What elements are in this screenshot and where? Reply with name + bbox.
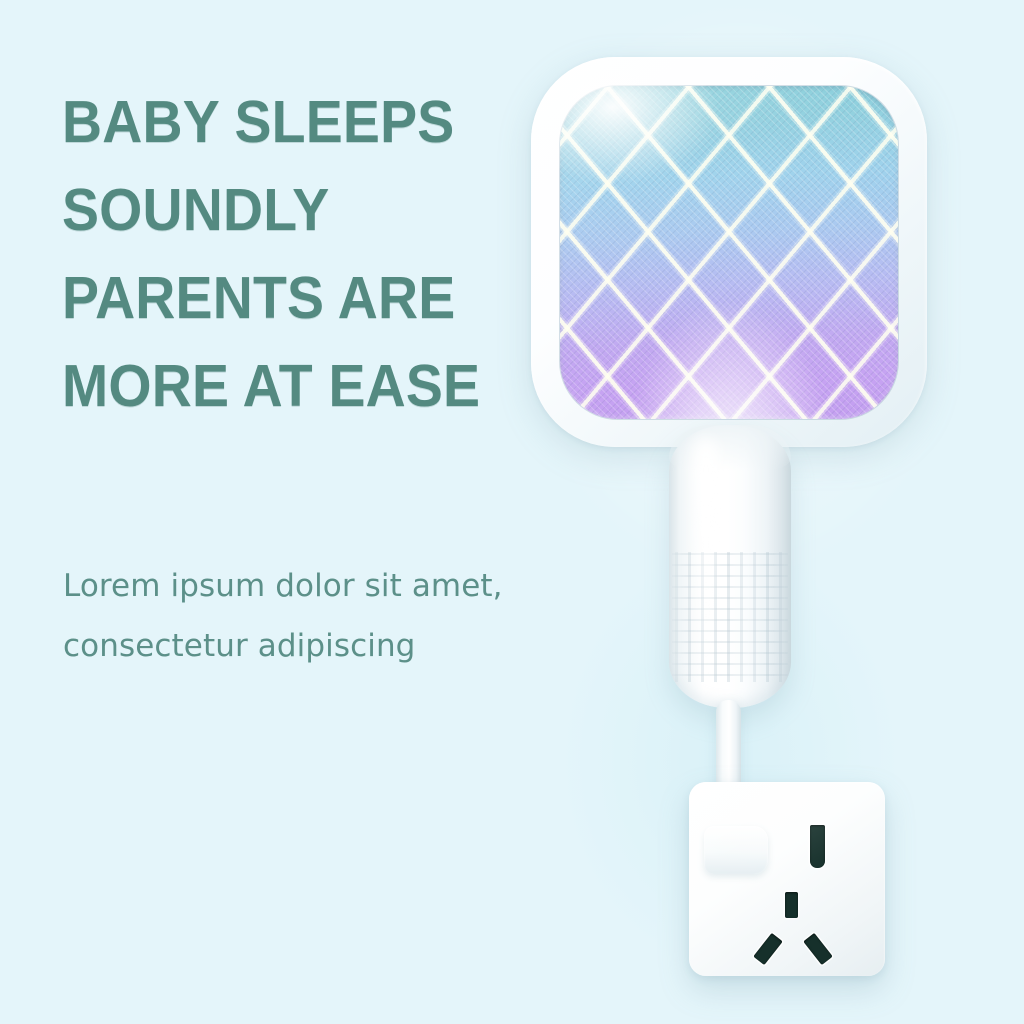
- headline-line-2: SOUNDLY: [62, 166, 504, 254]
- textured-grip-band: [672, 552, 788, 682]
- headline-line-1: BABY SLEEPS: [62, 78, 504, 166]
- electrified-diamond-mesh-grid: [560, 86, 898, 419]
- center-slot: [785, 892, 798, 918]
- subheading: Lorem ipsum dolor sit amet, consectetur …: [63, 556, 583, 676]
- subheading-line-1: Lorem ipsum dolor sit amet,: [63, 556, 583, 616]
- live-angled-slot: [753, 933, 783, 965]
- socket-face-sheen: [689, 782, 885, 976]
- mesh-diamond-wires: [560, 86, 898, 419]
- handle-body: [669, 425, 791, 708]
- product-banner-canvas: BABY SLEEPS SOUNDLY PARENTS ARE MORE AT …: [0, 0, 1024, 1024]
- headline-line-4: MORE AT EASE: [62, 342, 504, 430]
- headline-line-3: PARENTS ARE: [62, 254, 504, 342]
- headline: BABY SLEEPS SOUNDLY PARENTS ARE MORE AT …: [62, 78, 504, 430]
- earth-slot: [810, 825, 825, 868]
- neutral-angled-slot: [803, 933, 833, 965]
- plug-insert-nub: [704, 826, 768, 874]
- racket-head: [531, 57, 927, 447]
- subheading-line-2: consectetur adipiscing: [63, 616, 583, 676]
- handle-top-shade: [669, 425, 791, 471]
- wall-power-socket[interactable]: [689, 782, 885, 976]
